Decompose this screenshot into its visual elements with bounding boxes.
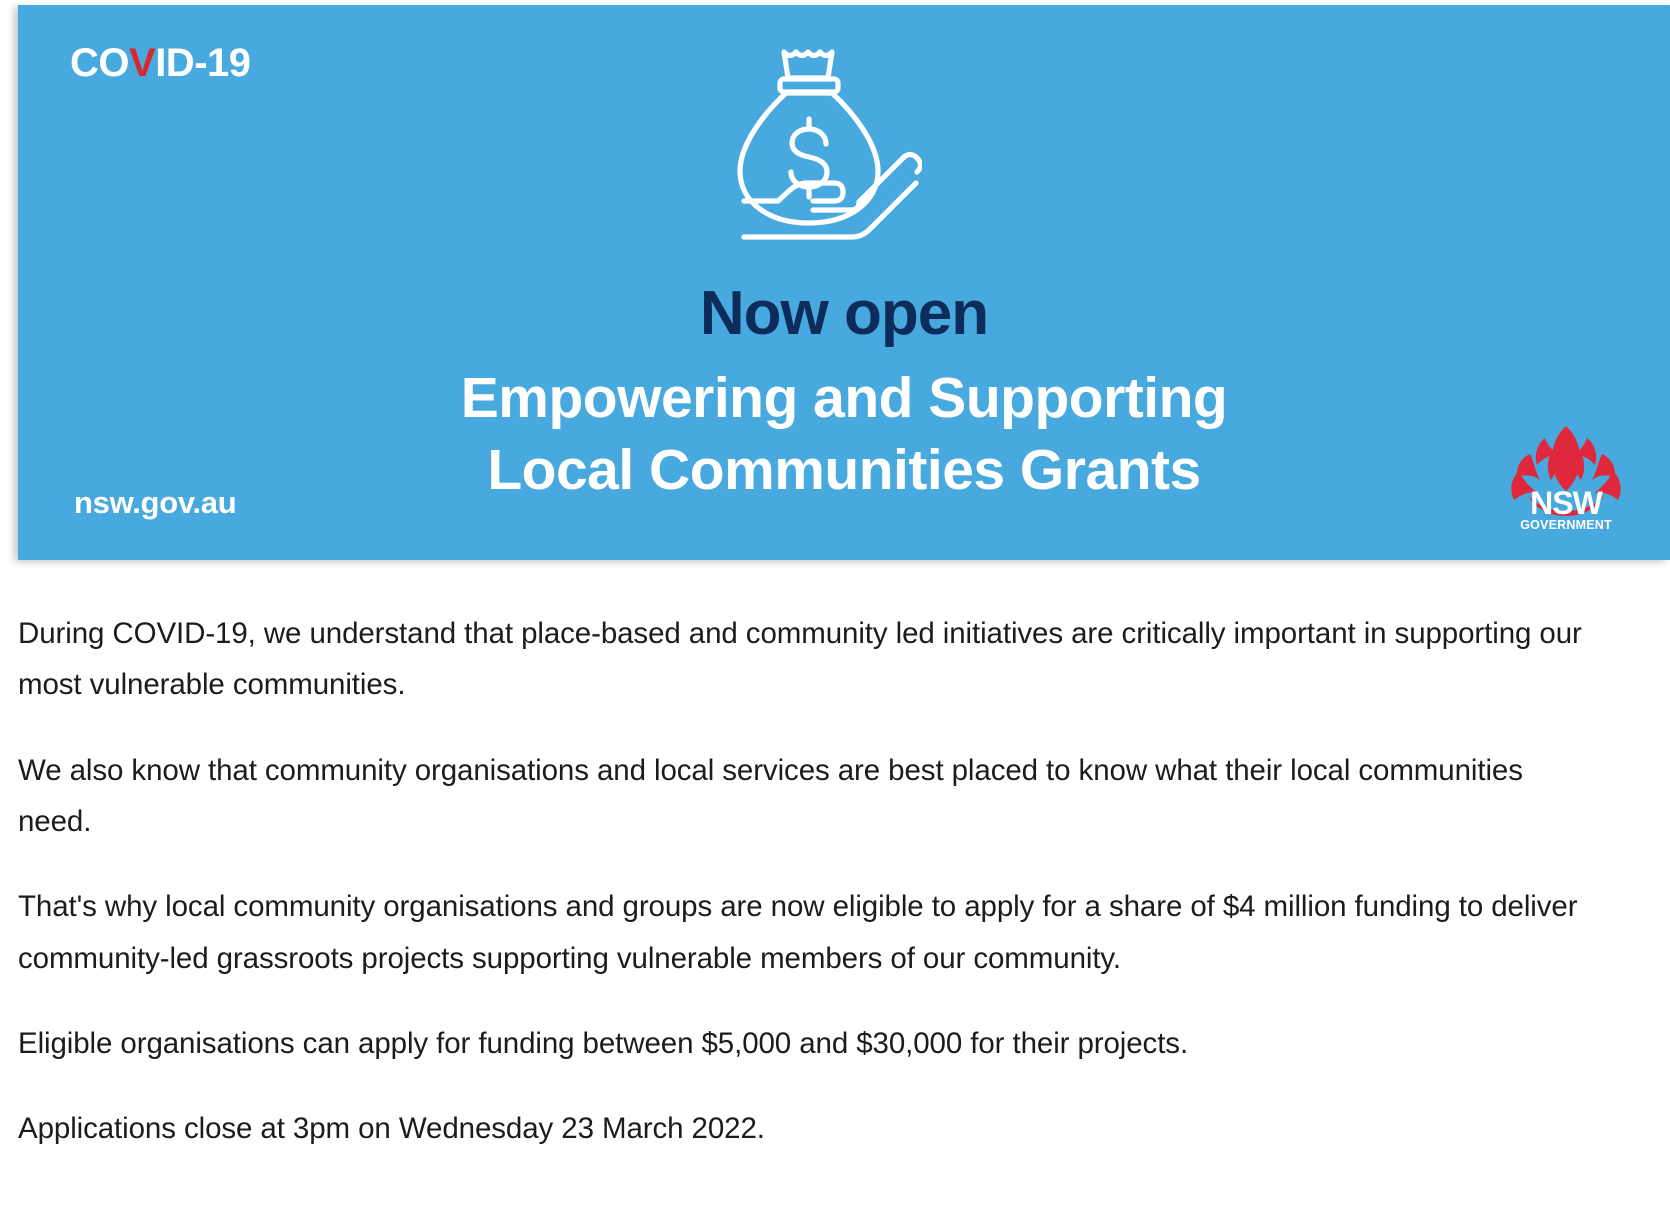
article-paragraph: Eligible organisations can apply for fun… [18, 1018, 1588, 1069]
article-paragraph: During COVID-19, we understand that plac… [18, 608, 1588, 711]
covid-wordmark-suffix: ID-19 [155, 41, 250, 85]
banner-subheadline: Empowering and Supporting Local Communit… [18, 363, 1670, 507]
covid-wordmark-prefix: CO [70, 41, 129, 85]
article-paragraph: Applications close at 3pm on Wednesday 2… [18, 1103, 1588, 1154]
nsw-government-logo: NSW GOVERNMENT [1506, 409, 1626, 531]
banner-subheadline-line-2: Local Communities Grants [18, 435, 1670, 507]
banner-site-url: nsw.gov.au [74, 487, 236, 518]
banner-subheadline-line-1: Empowering and Supporting [18, 363, 1670, 435]
banner-headline: Now open [18, 281, 1670, 346]
article-paragraph: That's why local community organisations… [18, 881, 1588, 984]
covid-19-wordmark: COVID-19 [70, 43, 251, 83]
article-paragraph: We also know that community organisation… [18, 745, 1588, 848]
page-root: COVID-19 Now open Empowerin [0, 0, 1670, 1222]
nsw-logo-secondary-text: GOVERNMENT [1520, 518, 1612, 531]
article-body: During COVID-19, we understand that plac… [18, 608, 1588, 1155]
nsw-logo-primary-text: NSW [1530, 485, 1603, 521]
covid-wordmark-highlight: V [129, 41, 155, 85]
grant-promo-banner: COVID-19 Now open Empowerin [18, 5, 1670, 560]
money-bag-in-hand-icon [722, 43, 922, 258]
